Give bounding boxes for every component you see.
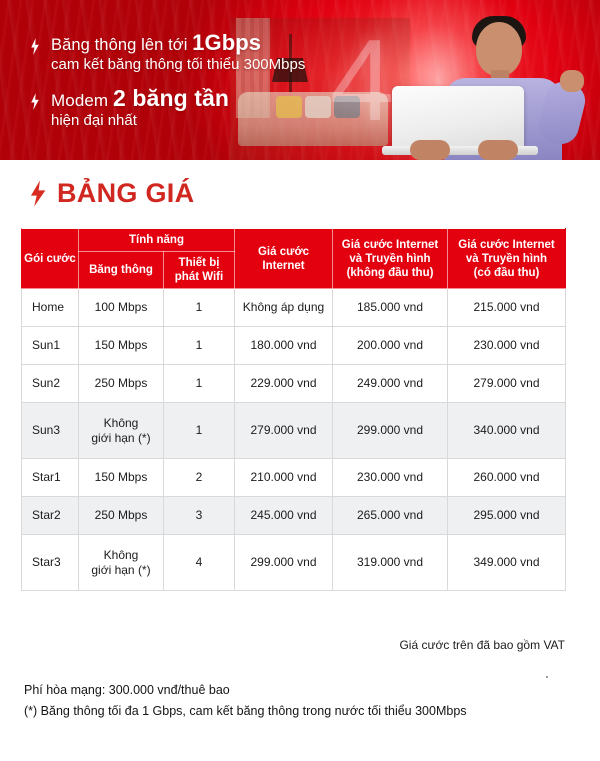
header-internet-price-l2: Internet — [262, 260, 304, 272]
cell-bandwidth: 100 Mbps — [79, 289, 164, 327]
page-title: BẢNG GIÁ — [57, 178, 194, 209]
header-tv-with-receiver-l1: Giá cước Internet — [458, 239, 554, 251]
cell-wifi-device: 1 — [164, 289, 235, 327]
stray-dot-artifact — [546, 676, 548, 678]
price-table-body: Home100 Mbps1Không áp dụng185.000 vnd215… — [22, 289, 566, 591]
table-row: Sun3Không giới hạn (*)1279.000 vnd299.00… — [22, 403, 566, 459]
cell-internet-price: 245.000 vnd — [235, 497, 333, 535]
cell-tv-no-receiver: 299.000 vnd — [333, 403, 448, 459]
header-package: Gói cước — [22, 229, 79, 289]
header-row-1: Gói cước Tính năng Giá cước Internet Giá… — [22, 229, 566, 252]
cell-package: Star3 — [22, 535, 79, 591]
banner-bullet-1-line2: cam kết băng thông tối thiểu 300Mbps — [51, 55, 305, 74]
banner-number-decor: 4 — [330, 22, 391, 138]
cell-tv-with-receiver: 260.000 vnd — [448, 459, 566, 497]
cell-wifi-device: 1 — [164, 327, 235, 365]
header-features-group: Tính năng — [79, 229, 235, 252]
cell-internet-price: Không áp dụng — [235, 289, 333, 327]
cell-tv-with-receiver: 230.000 vnd — [448, 327, 566, 365]
laptop-lid — [392, 86, 524, 148]
cell-package: Sun2 — [22, 365, 79, 403]
price-table-head: Gói cước Tính năng Giá cước Internet Giá… — [22, 229, 566, 289]
table-row: Home100 Mbps1Không áp dụng185.000 vnd215… — [22, 289, 566, 327]
cell-tv-no-receiver: 249.000 vnd — [333, 365, 448, 403]
header-tv-with-receiver: Giá cước Internet và Truyền hình (có đầu… — [448, 229, 566, 289]
cell-wifi-device: 1 — [164, 403, 235, 459]
banner-bullet-2-line1: Modem 2 băng tần — [51, 88, 229, 111]
cell-internet-price: 279.000 vnd — [235, 403, 333, 459]
header-wifi-device: Thiết bị phát Wifi — [164, 252, 235, 289]
header-tv-no-receiver: Giá cước Internet và Truyền hình (không … — [333, 229, 448, 289]
cell-bandwidth: 250 Mbps — [79, 497, 164, 535]
cushion-decor — [305, 96, 331, 118]
cell-tv-no-receiver: 319.000 vnd — [333, 535, 448, 591]
page-root: 4 Băng th — [0, 0, 600, 761]
bolt-icon — [30, 181, 46, 207]
cell-bandwidth: Không giới hạn (*) — [79, 403, 164, 459]
footnotes: Phí hòa mạng: 300.000 vnđ/thuê bao (*) B… — [24, 680, 467, 722]
cell-tv-with-receiver: 215.000 vnd — [448, 289, 566, 327]
person-left-hand — [410, 140, 450, 160]
footnote-installation-fee: Phí hòa mạng: 300.000 vnđ/thuê bao — [24, 680, 467, 701]
header-tv-with-receiver-l3: (có đầu thu) — [474, 267, 540, 279]
bolt-icon — [28, 38, 42, 59]
cell-package: Home — [22, 289, 79, 327]
table-row: Star2250 Mbps3245.000 vnd265.000 vnd295.… — [22, 497, 566, 535]
cell-internet-price: 180.000 vnd — [235, 327, 333, 365]
cell-package: Star1 — [22, 459, 79, 497]
banner-bullet-2-line2: hiện đại nhất — [51, 111, 229, 130]
cell-tv-with-receiver: 340.000 vnd — [448, 403, 566, 459]
cell-bandwidth: 150 Mbps — [79, 327, 164, 365]
cell-tv-with-receiver: 279.000 vnd — [448, 365, 566, 403]
cell-tv-with-receiver: 349.000 vnd — [448, 535, 566, 591]
cell-wifi-device: 3 — [164, 497, 235, 535]
table-row: Star1150 Mbps2210.000 vnd230.000 vnd260.… — [22, 459, 566, 497]
cell-internet-price: 229.000 vnd — [235, 365, 333, 403]
cell-tv-no-receiver: 200.000 vnd — [333, 327, 448, 365]
cell-package: Sun1 — [22, 327, 79, 365]
person-with-laptop-photo — [392, 8, 582, 160]
table-row: Sun2250 Mbps1229.000 vnd249.000 vnd279.0… — [22, 365, 566, 403]
bolt-icon — [28, 93, 42, 114]
price-table-wrapper: Gói cước Tính năng Giá cước Internet Giá… — [21, 228, 565, 591]
cell-package: Sun3 — [22, 403, 79, 459]
cell-tv-no-receiver: 265.000 vnd — [333, 497, 448, 535]
table-row: Sun1150 Mbps1180.000 vnd200.000 vnd230.0… — [22, 327, 566, 365]
vat-note: Giá cước trên đã bao gồm VAT — [399, 638, 565, 652]
cell-tv-with-receiver: 295.000 vnd — [448, 497, 566, 535]
cell-tv-no-receiver: 185.000 vnd — [333, 289, 448, 327]
header-tv-no-receiver-l3: (không đầu thu) — [347, 267, 434, 279]
header-bandwidth: Băng thông — [79, 252, 164, 289]
person-pointing-hand — [560, 70, 584, 92]
person-right-hand — [478, 140, 518, 160]
cell-wifi-device: 1 — [164, 365, 235, 403]
banner-bullet-1-line1: Băng thông lên tới 1Gbps — [51, 33, 305, 55]
cell-bandwidth: 150 Mbps — [79, 459, 164, 497]
section-title: BẢNG GIÁ — [30, 178, 194, 209]
header-tv-no-receiver-l2: và Truyền hình — [349, 253, 430, 265]
cell-wifi-device: 4 — [164, 535, 235, 591]
banner-copy: Băng thông lên tới 1Gbps cam kết băng th… — [28, 33, 305, 144]
cell-package: Star2 — [22, 497, 79, 535]
header-internet-price: Giá cước Internet — [235, 229, 333, 289]
cell-tv-no-receiver: 230.000 vnd — [333, 459, 448, 497]
cell-internet-price: 299.000 vnd — [235, 535, 333, 591]
banner-bullet-2: Modem 2 băng tần hiện đại nhất — [28, 88, 305, 130]
price-table: Gói cước Tính năng Giá cước Internet Giá… — [21, 228, 566, 591]
promo-banner: 4 Băng th — [0, 0, 600, 160]
cell-internet-price: 210.000 vnd — [235, 459, 333, 497]
header-internet-price-l1: Giá cước — [258, 246, 309, 258]
cell-bandwidth: 250 Mbps — [79, 365, 164, 403]
person-head — [476, 22, 522, 76]
footnote-unlimited-bandwidth: (*) Băng thông tối đa 1 Gbps, cam kết bă… — [24, 701, 467, 722]
cell-wifi-device: 2 — [164, 459, 235, 497]
table-row: Star3Không giới hạn (*)4299.000 vnd319.0… — [22, 535, 566, 591]
header-tv-with-receiver-l2: và Truyền hình — [466, 253, 547, 265]
cell-bandwidth: Không giới hạn (*) — [79, 535, 164, 591]
banner-bullet-1: Băng thông lên tới 1Gbps cam kết băng th… — [28, 33, 305, 74]
header-tv-no-receiver-l1: Giá cước Internet — [342, 239, 438, 251]
